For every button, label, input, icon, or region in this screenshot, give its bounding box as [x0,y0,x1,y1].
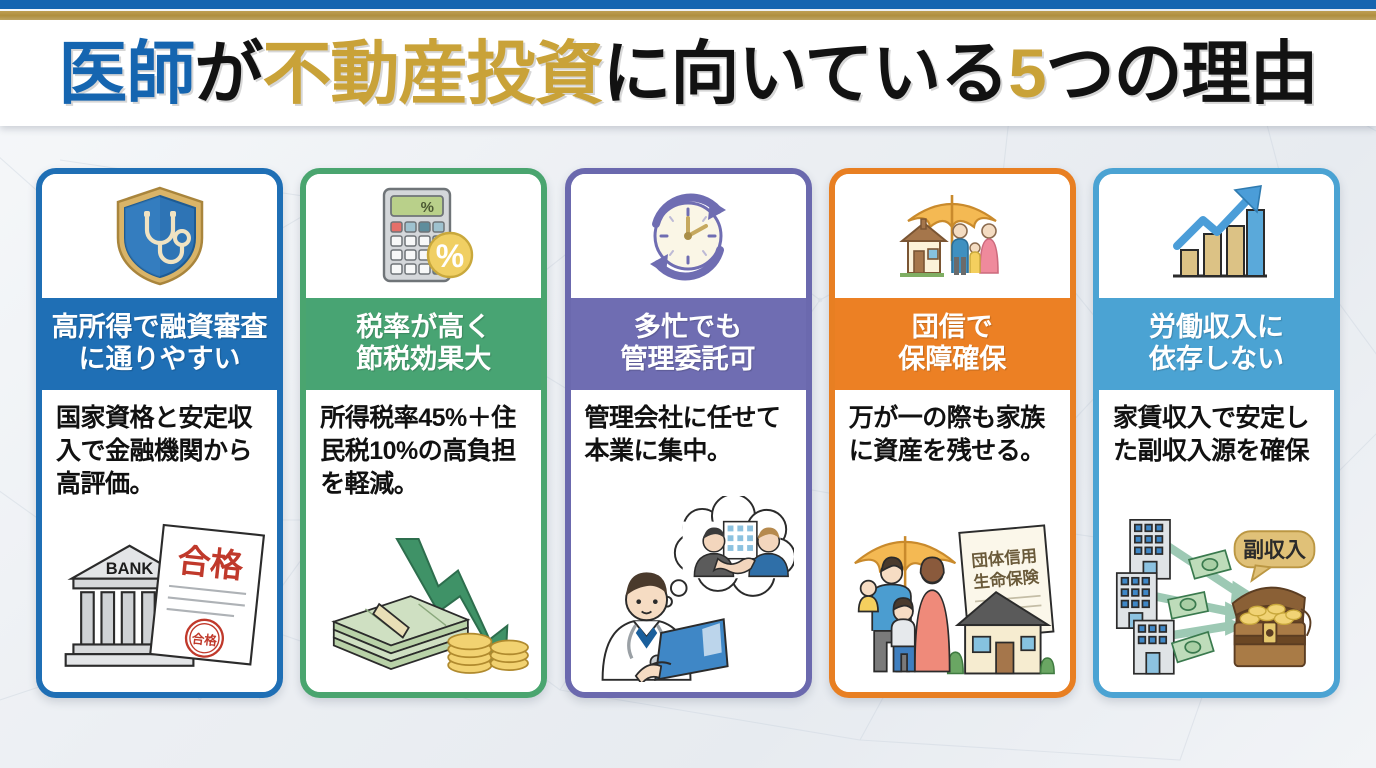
card-4-description: 万が一の際も家族に資産を残せる。 [849,402,1058,468]
card-2-icon-area: % [306,174,541,298]
title-part-realestate: 不動産投資 [262,35,602,112]
title-part-reasons: つの理由 [1046,35,1318,112]
reason-card-4[interactable]: 団信で 保障確保 万が一の際も家族に資産を残せる。 団体信用 生命保険 [829,168,1076,698]
card-4-body: 万が一の際も家族に資産を残せる。 団体信用 生命保険 [835,390,1070,692]
card-2-heading: 税率が高く 節税効果大 [306,298,541,390]
reason-card-5[interactable]: 労働収入に 依存しない 家賃収入で安定した副収入源を確保 [1093,168,1340,698]
title-part-five: 5 [1008,35,1045,112]
card-3-heading: 多忙でも 管理委託可 [571,298,806,390]
side-income-badge-label: 副収入 [1243,539,1306,562]
card-3-heading-line2: 管理委託可 [621,344,756,376]
bank-label: BANK [106,560,154,578]
card-1-icon-area [42,174,277,298]
card-5-heading: 労働収入に 依存しない [1099,298,1334,390]
bank-and-pass-certificate-illustration: BANK 合格 合格 [56,516,265,682]
certificate-pass-label: 合格 [176,541,246,585]
buildings-money-treasure-chest-illustration: 副収入 [1113,504,1322,682]
card-1-heading: 高所得で融資審査 に通りやすい [42,298,277,390]
card-4-heading: 団信で 保障確保 [835,298,1070,390]
card-3-body: 管理会社に任せて本業に集中。 [571,390,806,692]
calculator-percent-icon: % [368,183,480,289]
card-4-heading-line2: 保障確保 [898,344,1006,376]
card-5-icon-area [1099,174,1334,298]
card-1-illustration: BANK 合格 合格 [56,501,265,686]
card-3-description: 管理会社に任せて本業に集中。 [585,402,794,468]
title-part-doctor: 医師 [58,35,194,112]
card-5-heading-line2: 依存しない [1149,344,1284,376]
infographic-stage: 医師が不動産投資に向いている5つの理由 高所得で融資審査 に通りやすい [0,0,1376,768]
card-5-description: 家賃収入で安定した副収入源を確保 [1113,402,1322,468]
doctor-with-handshake-thought-bubble-illustration [585,496,794,682]
cash-stack-down-arrow-coins-illustration [320,530,529,682]
card-4-illustration: 団体信用 生命保険 [849,468,1058,686]
title-part-ga: が [194,35,262,112]
card-3-icon-area [571,174,806,298]
card-4-icon-area [835,174,1070,298]
card-2-illustration [320,501,529,686]
umbrella-house-family-icon [890,183,1014,289]
card-1-heading-line2: に通りやすい [79,344,241,376]
card-1-body: 国家資格と安定収入で金融機関から高評価。 [42,390,277,692]
title-part-suited: に向いている [602,35,1008,112]
card-2-body: 所得税率45%＋住民税10%の高負担を軽減。 [306,390,541,692]
calculator-display-value: % [420,199,433,216]
card-5-illustration: 副収入 [1113,468,1322,686]
card-2-heading-line1: 税率が高く [356,312,491,344]
card-3-heading-line1: 多忙でも [634,312,742,344]
page-title: 医師が不動産投資に向いている5つの理由 [58,39,1317,108]
title-band: 医師が不動産投資に向いている5つの理由 [0,20,1376,126]
top-blue-rule [0,0,1376,9]
card-2-description: 所得税率45%＋住民税10%の高負担を軽減。 [320,402,529,501]
top-gold-rule [0,11,1376,20]
certificate-stamp-label: 合格 [191,631,218,649]
clock-refresh-icon [634,184,742,288]
reason-card-list: 高所得で融資審査 に通りやすい 国家資格と安定収入で金融機関から高評価。 [36,168,1340,698]
shield-stethoscope-icon [106,182,214,290]
card-4-heading-line1: 団信で [912,312,993,344]
reason-card-2[interactable]: % [300,168,547,698]
card-5-heading-line1: 労働収入に [1149,312,1284,344]
reason-card-3[interactable]: 多忙でも 管理委託可 管理会社に任せて本業に集中。 [565,168,812,698]
card-5-body: 家賃収入で安定した副収入源を確保 [1099,390,1334,692]
reason-card-1[interactable]: 高所得で融資審査 に通りやすい 国家資格と安定収入で金融機関から高評価。 [36,168,283,698]
card-3-illustration [585,468,794,686]
bar-chart-up-arrow-icon [1159,184,1275,288]
percent-badge-glyph: % [436,238,464,274]
card-1-description: 国家資格と安定収入で金融機関から高評価。 [56,402,265,501]
family-umbrella-house-insurance-policy-illustration: 団体信用 生命保険 [849,514,1058,682]
card-2-heading-line2: 節税効果大 [356,344,491,376]
card-1-heading-line1: 高所得で融資審査 [52,312,268,344]
